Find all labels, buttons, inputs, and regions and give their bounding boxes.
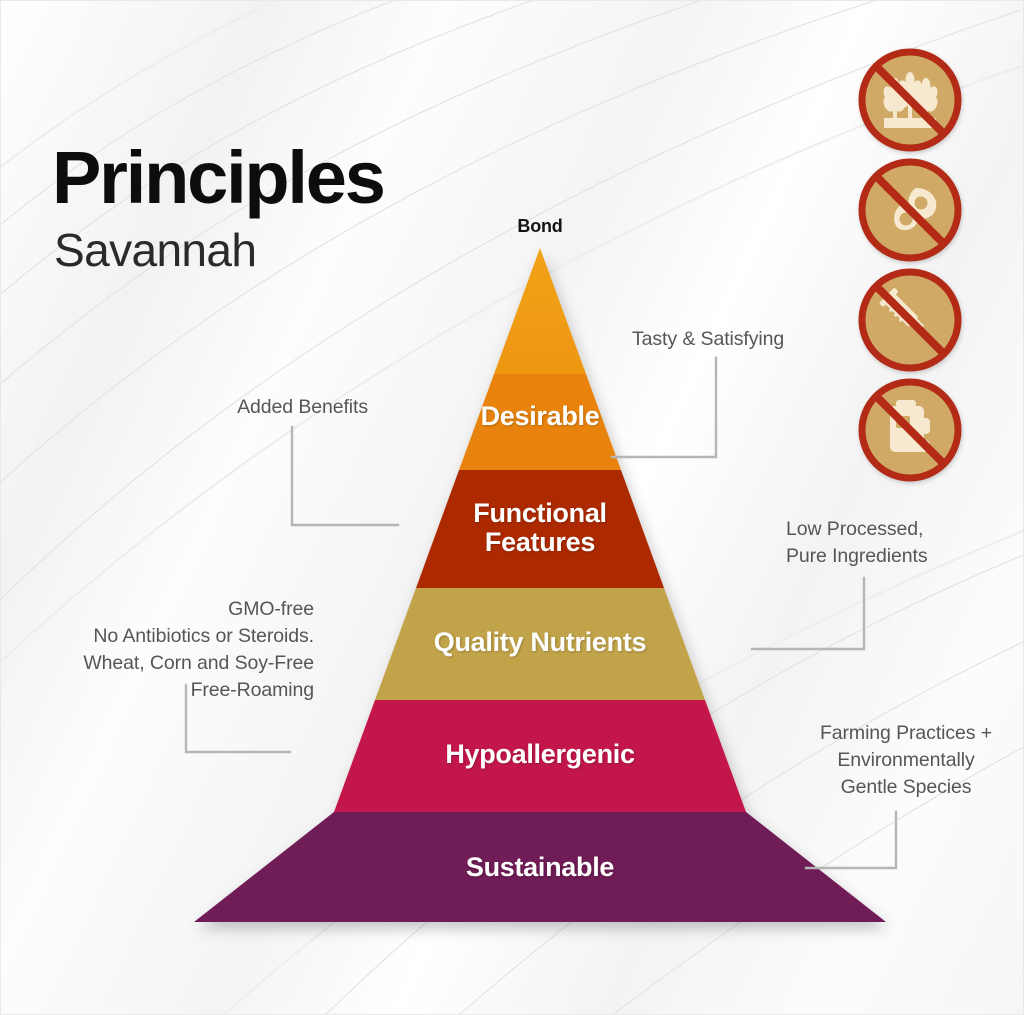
callout-farming-practices: Farming Practices + Environmentally Gent…: [806, 720, 1006, 801]
no-additives-badge: [858, 378, 962, 482]
callout-gmo-free: GMO-free No Antibiotics or Steroids. Whe…: [24, 596, 314, 704]
infographic-canvas: Principles Savannah: [0, 0, 1024, 1015]
callout-added-benefits: Added Benefits: [72, 394, 368, 421]
callout-tasty-satisfying: Tasty & Satisfying: [632, 326, 892, 353]
callout-low-processed: Low Processed, Pure Ingredients: [786, 516, 1016, 570]
page-title: Principles: [52, 142, 384, 213]
no-hormones-badge: [858, 268, 962, 372]
connector-farming: [806, 812, 896, 868]
no-grain-badge: [858, 48, 962, 152]
restriction-badges: [858, 48, 962, 482]
connector-added-benefits: [292, 427, 398, 525]
page-subtitle: Savannah: [54, 225, 384, 276]
title-block: Principles Savannah: [52, 142, 384, 276]
no-soy-badge: [858, 158, 962, 262]
connector-low-processed: [752, 578, 864, 649]
connector-tasty: [612, 358, 716, 457]
